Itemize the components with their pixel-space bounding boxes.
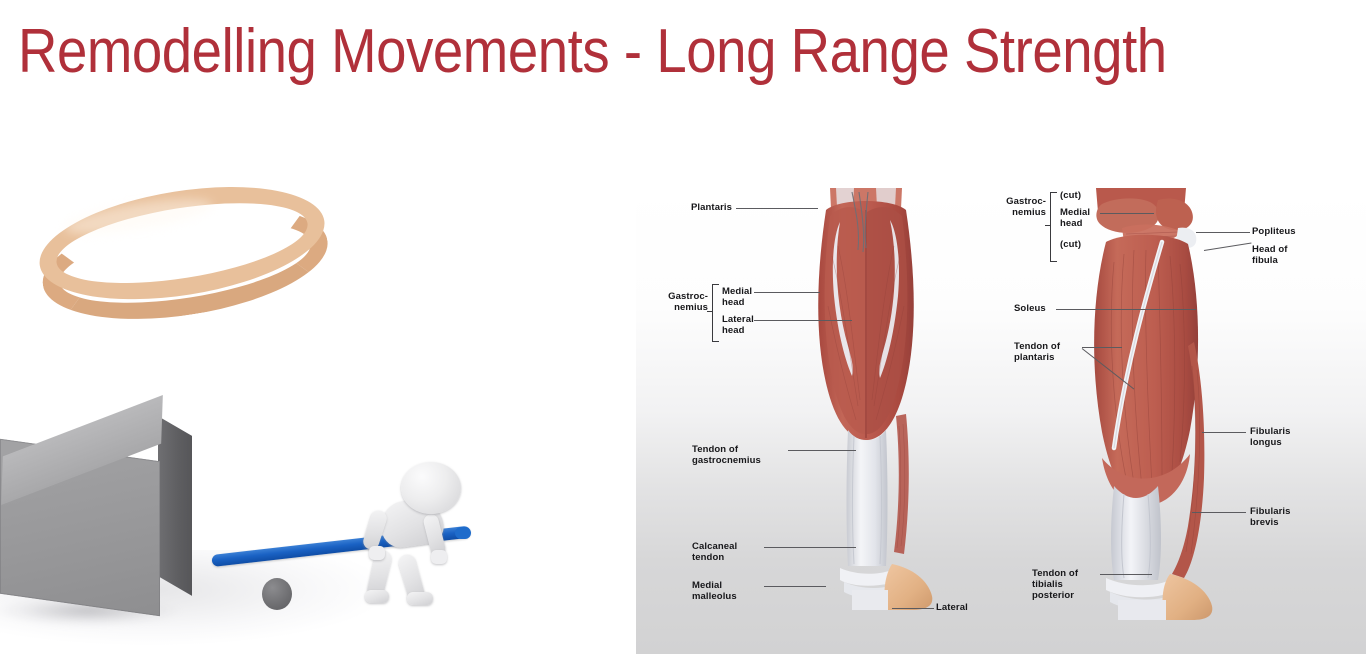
leader-popliteus <box>1196 232 1250 233</box>
leader-medial-head-right <box>1100 213 1154 214</box>
label-fibularis-brevis: Fibularis brevis <box>1250 506 1314 528</box>
leader-tendon-of-plantaris-1 <box>1082 347 1122 348</box>
leader-fibularis-brevis <box>1192 512 1246 513</box>
label-tendon-of-gastrocnemius: Tendon of gastrocnemius <box>692 444 786 466</box>
leader-lateral <box>892 608 934 609</box>
white-3d-figure <box>355 462 475 602</box>
leader-plantaris <box>736 208 818 209</box>
label-cut-top: (cut) <box>1060 190 1100 201</box>
figure-head <box>401 462 461 514</box>
label-tendon-of-plantaris: Tendon of plantaris <box>1014 341 1080 363</box>
label-medial-head-right: Medial head <box>1060 207 1106 229</box>
bracket-tick-gastrocnemius-left <box>707 311 712 312</box>
label-lateral: Lateral <box>936 602 984 613</box>
bracket-gastrocnemius-right <box>1050 192 1057 262</box>
leader-tendon-of-gastrocnemius <box>788 450 856 451</box>
left-leg-svg <box>796 186 936 626</box>
label-gastrocnemius-left: Gastroc- nemius <box>644 291 708 313</box>
label-tendon-of-tibialis-posterior: Tendon of tibialis posterior <box>1032 568 1098 601</box>
label-fibularis-longus: Fibularis longus <box>1250 426 1314 448</box>
left-illustration-column <box>0 150 620 654</box>
grey-cube <box>0 418 200 608</box>
leader-tendon-of-tibialis-posterior <box>1100 574 1152 575</box>
leader-calcaneal-tendon <box>764 547 856 548</box>
leader-medial-malleolus <box>764 586 826 587</box>
figure-pulling-block-image <box>0 400 520 654</box>
page-title: Remodelling Movements - Long Range Stren… <box>18 14 1074 90</box>
resistance-band-image <box>40 190 360 340</box>
label-calcaneal-tendon: Calcaneal tendon <box>692 541 762 563</box>
leader-lateral-head-left <box>754 320 852 321</box>
label-medial-head-left: Medial head <box>722 286 776 308</box>
label-plantaris: Plantaris <box>658 202 732 213</box>
right-leg-illustration <box>1066 186 1216 626</box>
label-cut-bottom: (cut) <box>1060 239 1100 250</box>
resistance-band-graphic <box>32 167 349 342</box>
label-medial-malleolus: Medial malleolus <box>692 580 762 602</box>
leader-medial-head-left <box>754 292 820 293</box>
label-popliteus: Popliteus <box>1252 226 1322 237</box>
left-leg-illustration <box>796 186 936 626</box>
leader-fibularis-longus <box>1202 432 1246 433</box>
label-lateral-head-left: Lateral head <box>722 314 776 336</box>
figure-right-foot <box>407 592 433 605</box>
bracket-tick-gastrocnemius-right <box>1045 225 1050 226</box>
cube-side-face <box>158 416 192 596</box>
figure-left-foot <box>365 590 389 603</box>
figure-right-hand <box>431 550 447 564</box>
leader-soleus <box>1056 309 1196 310</box>
anatomy-diagram-image: Plantaris Gastroc- nemius Medial head La… <box>636 186 1366 654</box>
slide-root: Remodelling Movements - Long Range Stren… <box>0 0 1366 654</box>
right-leg-svg <box>1066 186 1216 626</box>
grey-ball <box>262 578 292 610</box>
bracket-gastrocnemius-left <box>712 284 719 342</box>
label-gastrocnemius-right: Gastroc- nemius <box>984 196 1046 218</box>
label-head-of-fibula: Head of fibula <box>1252 244 1312 266</box>
figure-left-hand <box>369 546 385 560</box>
